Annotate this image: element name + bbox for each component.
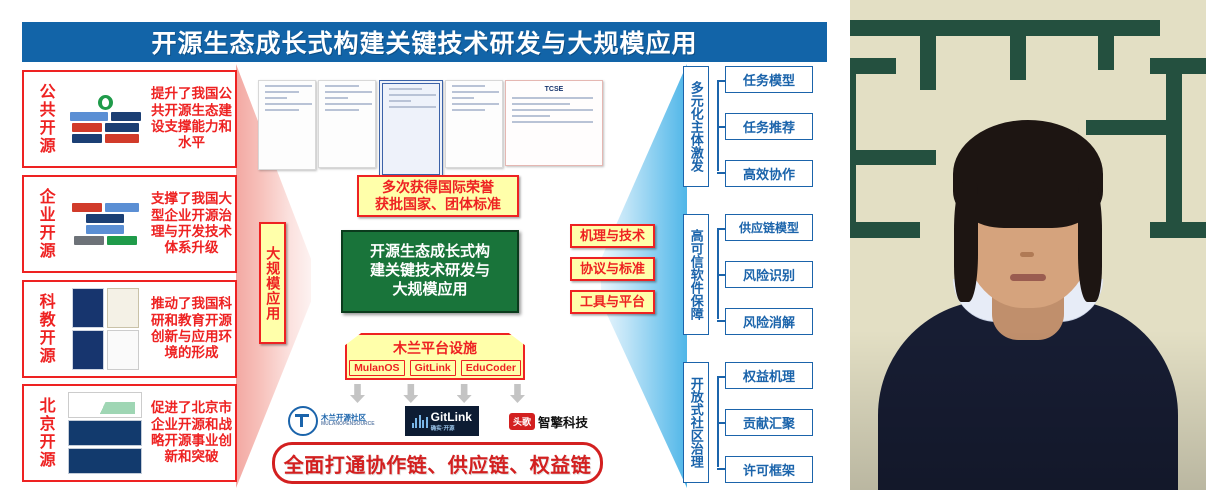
mulan-community-sub: MULANOPENSOURCE bbox=[321, 422, 375, 428]
report-cover-thumb bbox=[72, 330, 104, 370]
portal-screenshot-thumb bbox=[68, 448, 142, 474]
tree-leaf-efficient-collab[interactable]: 高效协作 bbox=[725, 160, 813, 187]
gitlink-sub: 确实·开源 bbox=[431, 424, 472, 432]
bottom-logo-row: 木兰开源社区 MULANOPENSOURCE GitLink 确实·开源 头歌 … bbox=[288, 405, 588, 437]
photo-mouth bbox=[1010, 274, 1046, 281]
photo-lattice-bar bbox=[850, 222, 920, 238]
left-card-desc: 提升了我国公共开源生态建设支撑能力和水平 bbox=[148, 86, 235, 152]
gitlink-name: GitLink bbox=[431, 410, 472, 424]
poster-title-bar: 开源生态成长式构建关键技术研发与大规模应用 bbox=[22, 22, 827, 62]
poster-panel: 开源生态成长式构建关键技术研发与大规模应用 公共开源 提升了我国公共开源生态建设… bbox=[0, 0, 850, 490]
photo-lattice-bar bbox=[1098, 20, 1114, 70]
arrow-down-icon bbox=[457, 384, 472, 403]
mulan-community-icon bbox=[288, 406, 318, 436]
photo-lattice-bar bbox=[1010, 20, 1026, 80]
mulan-platform-title: 木兰平台设施 bbox=[347, 338, 523, 358]
left-card-label: 公共开源 bbox=[28, 75, 62, 163]
huawei-icon bbox=[72, 203, 102, 212]
tree-leaf-risk-mitigate[interactable]: 风险消解 bbox=[725, 308, 813, 335]
summary-oval[interactable]: 全面打通协作链、供应链、权益链 bbox=[272, 442, 603, 484]
photo-person-hair-right bbox=[1078, 182, 1102, 302]
gitee-icon bbox=[72, 123, 102, 132]
tree-group-title[interactable]: 多元化主体激发 bbox=[683, 66, 709, 187]
photo-lattice-bar bbox=[1086, 120, 1182, 135]
book-cover-thumb bbox=[72, 288, 104, 328]
photo-nose bbox=[1020, 252, 1034, 257]
gitlink-waveform-icon bbox=[412, 415, 428, 428]
core-topic-text: 开源生态成长式构 建关键技术研发与 大规模应用 bbox=[370, 243, 490, 299]
photo-lattice-bar bbox=[850, 58, 896, 74]
tree-leaf-task-recommend[interactable]: 任务推荐 bbox=[725, 113, 813, 140]
mulan-item-educoder[interactable]: EduCoder bbox=[461, 360, 521, 376]
platform-screenshot-thumb bbox=[68, 420, 142, 446]
tree-group-multi-agent: 多元化主体激发 任务模型 任务推荐 高效协作 bbox=[683, 66, 813, 187]
left-card-enterprise-opensource[interactable]: 企业开源 支撑了我国大型企业开源治理与开发技术体系升级 bbox=[22, 175, 237, 273]
logo-zhiqing[interactable]: 头歌 智擎科技 bbox=[509, 412, 588, 431]
photo-lattice-bar bbox=[850, 150, 936, 165]
tech-chip-mechanism[interactable]: 机理与技术 bbox=[570, 224, 655, 248]
linux-icon bbox=[72, 134, 102, 143]
down-arrow-group bbox=[350, 384, 525, 403]
neusoft-icon bbox=[86, 214, 124, 223]
left-card-label: 北京开源 bbox=[28, 389, 62, 477]
tree-leaf-group: 供应链模型 风险识别 风险消解 bbox=[725, 214, 813, 335]
large-scale-application-label[interactable]: 大规模应用 bbox=[259, 222, 286, 344]
tree-leaf-group: 权益机理 贡献汇聚 许可框架 bbox=[725, 362, 813, 483]
tree-connector bbox=[709, 362, 725, 483]
tree-connector bbox=[709, 214, 725, 335]
left-card-public-opensource[interactable]: 公共开源 提升了我国公共开源生态建设支撑能力和水平 bbox=[22, 70, 237, 168]
inspur-icon bbox=[86, 225, 124, 234]
photo-vignette bbox=[850, 330, 1206, 490]
tree-leaf-license-framework[interactable]: 许可框架 bbox=[725, 456, 813, 483]
tech-chip-protocol[interactable]: 协议与标准 bbox=[570, 257, 655, 281]
tech-chip-tools[interactable]: 工具与平台 bbox=[570, 290, 655, 314]
kingdee-icon bbox=[74, 236, 104, 245]
photo-lattice-bar bbox=[850, 58, 856, 238]
tree-leaf-supply-chain-model[interactable]: 供应链模型 bbox=[725, 214, 813, 241]
tree-leaf-contribution[interactable]: 贡献汇聚 bbox=[725, 409, 813, 436]
logo-chip bbox=[105, 123, 139, 132]
arrow-down-icon bbox=[403, 384, 418, 403]
left-card-beijing-opensource[interactable]: 北京开源 促进了北京市企业开源和战略开源事业创新和突破 bbox=[22, 384, 237, 482]
tree-leaf-group: 任务模型 任务推荐 高效协作 bbox=[725, 66, 813, 187]
photo-lattice-bar bbox=[1150, 222, 1206, 238]
tree-group-trusted-software: 高可信软件保障 供应链模型 风险识别 风险消解 bbox=[683, 214, 813, 335]
honor-box-text: 多次获得国际荣誉 获批国家、团体标准 bbox=[375, 179, 501, 213]
certificate-gb-standard bbox=[258, 80, 316, 170]
portrait-photo bbox=[850, 0, 1206, 490]
tree-leaf-risk-identify[interactable]: 风险识别 bbox=[725, 261, 813, 288]
large-scale-application-text: 大规模应用 bbox=[265, 246, 280, 321]
left-card-logo-group bbox=[62, 284, 148, 374]
logo-chip bbox=[105, 203, 139, 212]
left-card-label: 企业开源 bbox=[28, 180, 62, 268]
technology-tree: 多元化主体激发 任务模型 任务推荐 高效协作 高可信软件保障 bbox=[683, 66, 843, 486]
summary-oval-text: 全面打通协作链、供应链、权益链 bbox=[284, 449, 592, 478]
core-topic-box[interactable]: 开源生态成长式构 建关键技术研发与 大规模应用 bbox=[341, 230, 519, 313]
tree-connector bbox=[709, 66, 725, 187]
left-card-logo-group bbox=[62, 179, 148, 269]
tree-leaf-rights-mechanism[interactable]: 权益机理 bbox=[725, 362, 813, 389]
certificate-row: TCSE bbox=[258, 80, 603, 172]
photo-lattice-bar bbox=[920, 20, 936, 90]
tree-group-title[interactable]: 高可信软件保障 bbox=[683, 214, 709, 335]
poster-page: 开源生态成长式构建关键技术研发与大规模应用 公共开源 提升了我国公共开源生态建设… bbox=[0, 0, 1206, 490]
left-card-desc: 促进了北京市企业开源和战略开源事业创新和突破 bbox=[148, 400, 235, 466]
certificate-tcse-award: TCSE bbox=[505, 80, 603, 166]
logo-chip bbox=[111, 112, 141, 121]
trend-chart-thumb bbox=[68, 392, 142, 418]
arrow-down-icon bbox=[510, 384, 525, 403]
left-card-research-education-opensource[interactable]: 科教开源 推动了我国科研和教育开源创新与应用环境的形成 bbox=[22, 280, 237, 378]
educoder-icon: 头歌 bbox=[509, 413, 535, 430]
left-card-logo-group bbox=[62, 388, 148, 478]
tree-group-open-community: 开放式社区治理 权益机理 贡献汇聚 许可框架 bbox=[683, 362, 813, 483]
mulan-platform-items: MulanOS GitLink EduCoder bbox=[347, 360, 523, 376]
tree-leaf-task-model[interactable]: 任务模型 bbox=[725, 66, 813, 93]
left-card-logo-group bbox=[62, 74, 148, 164]
certificate-icse-award bbox=[318, 80, 376, 168]
tree-group-title-text: 高可信软件保障 bbox=[689, 229, 703, 320]
logo-chip bbox=[70, 112, 108, 121]
certificate-blue-frame-award bbox=[379, 80, 443, 178]
left-card-desc: 推动了我国科研和教育开源创新与应用环境的形成 bbox=[148, 296, 235, 362]
tree-group-title-text: 多元化主体激发 bbox=[689, 81, 703, 172]
photo-lattice-bar bbox=[1166, 58, 1182, 238]
certificate-thumb bbox=[107, 288, 139, 328]
mulan-item-gitlink[interactable]: GitLink bbox=[410, 360, 456, 376]
left-card-desc: 支撑了我国大型企业开源治理与开发技术体系升级 bbox=[148, 191, 235, 257]
yonyou-icon bbox=[107, 236, 137, 245]
platform-screenshot-thumb bbox=[107, 330, 139, 370]
tech-chip-group: 机理与技术 协议与标准 工具与平台 bbox=[570, 224, 655, 323]
tree-group-title-text: 开放式社区治理 bbox=[689, 377, 703, 468]
openatom-icon bbox=[98, 95, 113, 110]
mulan-platform-box[interactable]: 木兰平台设施 MulanOS GitLink EduCoder bbox=[345, 333, 525, 380]
apache-icon bbox=[105, 134, 139, 143]
logo-gitlink[interactable]: GitLink 确实·开源 bbox=[405, 406, 479, 436]
tree-group-title[interactable]: 开放式社区治理 bbox=[683, 362, 709, 483]
certificate-tcse-label: TCSE bbox=[506, 86, 602, 93]
logo-mulan-community[interactable]: 木兰开源社区 MULANOPENSOURCE bbox=[288, 406, 375, 436]
arrow-down-icon bbox=[350, 384, 365, 403]
certificate-icpc-award bbox=[445, 80, 503, 168]
left-card-label: 科教开源 bbox=[28, 285, 62, 373]
honor-box[interactable]: 多次获得国际荣誉 获批国家、团体标准 bbox=[357, 175, 519, 217]
page-title: 开源生态成长式构建关键技术研发与大规模应用 bbox=[151, 24, 697, 60]
photo-person-hair-left bbox=[954, 182, 978, 302]
zhiqing-name: 智擎科技 bbox=[538, 412, 588, 431]
mulan-item-mulanos[interactable]: MulanOS bbox=[349, 360, 405, 376]
